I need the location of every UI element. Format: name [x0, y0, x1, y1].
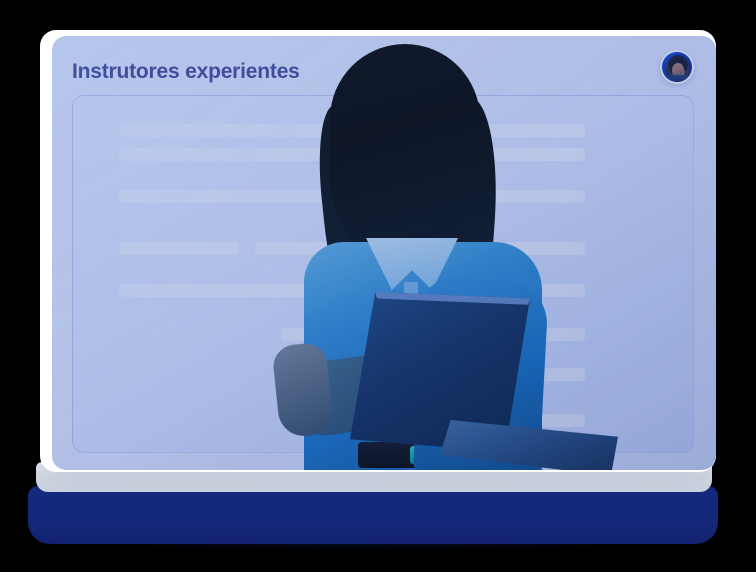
skeleton-bar	[119, 284, 585, 297]
instructor-card: Instrutores experientes	[52, 36, 716, 470]
skeleton-bar	[119, 242, 239, 255]
avatar-image	[666, 55, 690, 82]
page-title: Instrutores experientes	[72, 60, 300, 84]
skeleton-bar	[345, 190, 585, 203]
screenshot-stage: Instrutores experientes	[0, 0, 756, 572]
content-panel	[72, 95, 694, 453]
skeleton-bar	[119, 124, 419, 137]
skeleton-bar	[399, 368, 585, 381]
avatar-ring	[662, 52, 692, 82]
skeleton-bar	[119, 190, 329, 203]
card-base-navy	[28, 486, 718, 544]
skeleton-bar	[119, 148, 585, 161]
skeleton-bar	[281, 328, 585, 341]
avatar[interactable]	[660, 50, 694, 84]
skeleton-bar	[441, 414, 585, 427]
skeleton-bar	[255, 242, 585, 255]
skeleton-bar	[281, 368, 381, 381]
skeleton-bar	[435, 124, 585, 137]
